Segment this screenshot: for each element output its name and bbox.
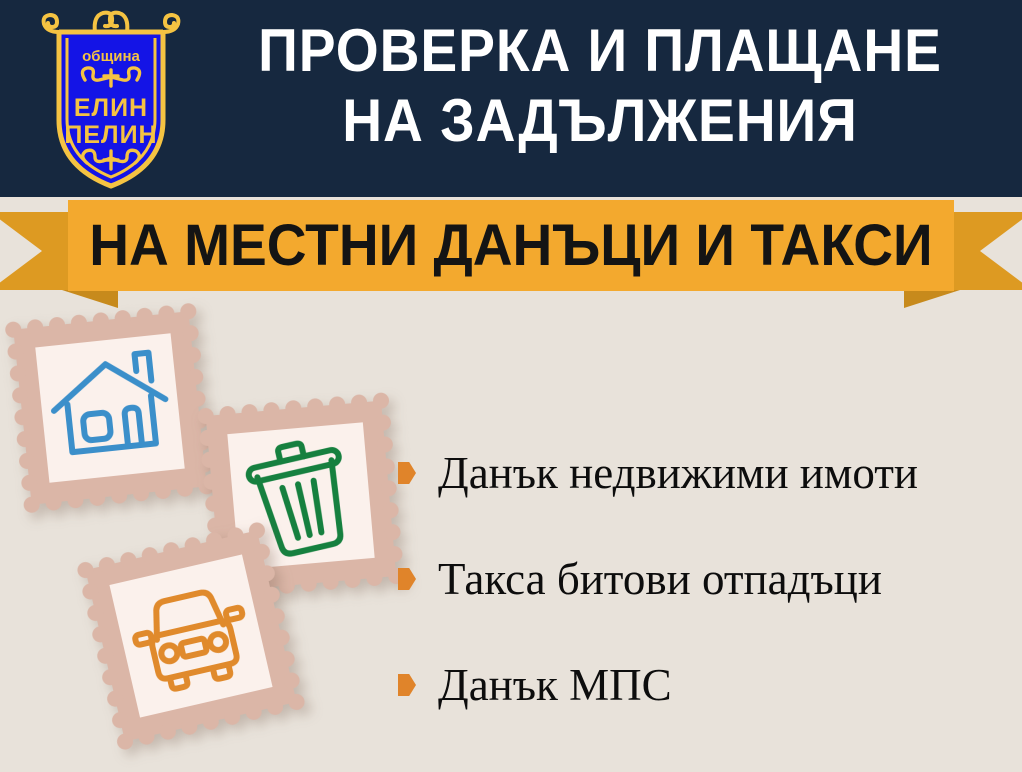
ribbon-main-panel: НА МЕСТНИ ДАНЪЦИ И ТАКСИ xyxy=(68,200,954,291)
subtitle-ribbon: НА МЕСТНИ ДАНЪЦИ И ТАКСИ xyxy=(0,190,1022,310)
crest-text-obshtina: община xyxy=(82,48,140,65)
ribbon-label: НА МЕСТНИ ДАНЪЦИ И ТАКСИ xyxy=(89,216,932,276)
municipality-crest: община ЕЛИН ПЕЛИН xyxy=(33,8,189,193)
ribbon-fold-right xyxy=(904,290,960,308)
header-title-line-1: ПРОВЕРКА И ПЛАЩАНЕ xyxy=(223,16,977,86)
stamp-card-property-tax xyxy=(4,302,215,513)
header-title-block: ПРОВЕРКА И ПЛАЩАНЕ НА ЗАДЪЛЖЕНИЯ xyxy=(190,16,1010,156)
arrow-bullet-icon xyxy=(398,674,416,696)
list-item-label: Данък МПС xyxy=(438,660,672,710)
list-item[interactable]: Данък недвижими имоти xyxy=(398,420,1018,526)
list-item-label: Такса битови отпадъци xyxy=(438,554,882,604)
crest-text-line1: ЕЛИН xyxy=(74,94,148,122)
list-item-label: Данък недвижими имоти xyxy=(438,448,918,498)
list-item[interactable]: Такса битови отпадъци xyxy=(398,526,1018,632)
header-title-line-2: НА ЗАДЪЛЖЕНИЯ xyxy=(223,86,977,156)
ribbon-fold-left xyxy=(62,290,118,308)
poster-canvas: община ЕЛИН ПЕЛИН xyxy=(0,0,1022,772)
list-item[interactable]: Данък МПС xyxy=(398,632,1018,738)
arrow-bullet-icon xyxy=(398,568,416,590)
tax-type-list: Данък недвижими имоти Такса битови отпад… xyxy=(398,420,1018,738)
header-banner: община ЕЛИН ПЕЛИН xyxy=(0,0,1022,197)
arrow-bullet-icon xyxy=(398,462,416,484)
crest-text-line2: ПЕЛИН xyxy=(64,121,157,149)
stamp-card-group xyxy=(0,300,420,772)
